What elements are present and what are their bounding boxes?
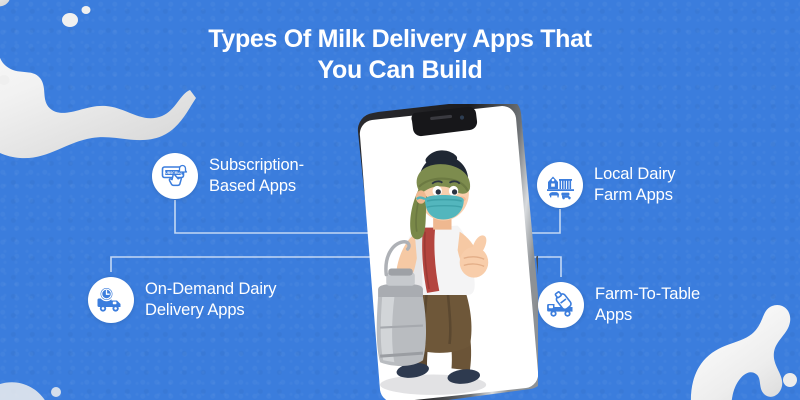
truck-milk-bottle-icon	[546, 290, 577, 321]
subscribe-badge: SUBSCRIBE	[152, 153, 198, 199]
dairy-farm-barn-icon	[545, 170, 576, 201]
infographic-canvas: Types Of Milk Delivery Apps That You Can…	[0, 0, 800, 400]
node-label-on-demand-dairy-delivery-apps: On-Demand Dairy Delivery Apps	[145, 279, 276, 321]
phone-mockup	[352, 104, 538, 400]
connector-on-demand	[111, 257, 383, 272]
node-farm-to-table-apps[interactable]: Farm-To-Table Apps	[538, 282, 700, 328]
title-line-2: You Can Build	[0, 55, 800, 86]
subscribe-button-icon: SUBSCRIBE	[160, 161, 190, 191]
node-label-local-dairy-farm-apps: Local Dairy Farm Apps	[594, 164, 675, 206]
phone-side-buttons	[536, 222, 538, 282]
delivery-truck-clock-icon	[96, 285, 127, 316]
node-label-subscription-based-apps: Subscription- Based Apps	[209, 155, 304, 197]
dairy-farm-badge	[537, 162, 583, 208]
milk-splash-bottom-right-icon	[684, 304, 800, 400]
title-line-1: Types Of Milk Delivery Apps That	[208, 25, 592, 53]
page-title: Types Of Milk Delivery Apps That You Can…	[0, 24, 800, 85]
farm-to-table-badge	[538, 282, 584, 328]
node-on-demand-dairy-delivery-apps[interactable]: On-Demand Dairy Delivery Apps	[88, 277, 276, 323]
node-local-dairy-farm-apps[interactable]: Local Dairy Farm Apps	[537, 162, 675, 208]
node-subscription-based-apps[interactable]: SUBSCRIBE Subscription- Based Apps	[152, 153, 304, 199]
milk-splash-bottom-left-icon	[0, 340, 90, 400]
node-label-farm-to-table-apps: Farm-To-Table Apps	[595, 284, 700, 326]
phone-screen	[352, 104, 538, 400]
on-demand-badge	[88, 277, 134, 323]
